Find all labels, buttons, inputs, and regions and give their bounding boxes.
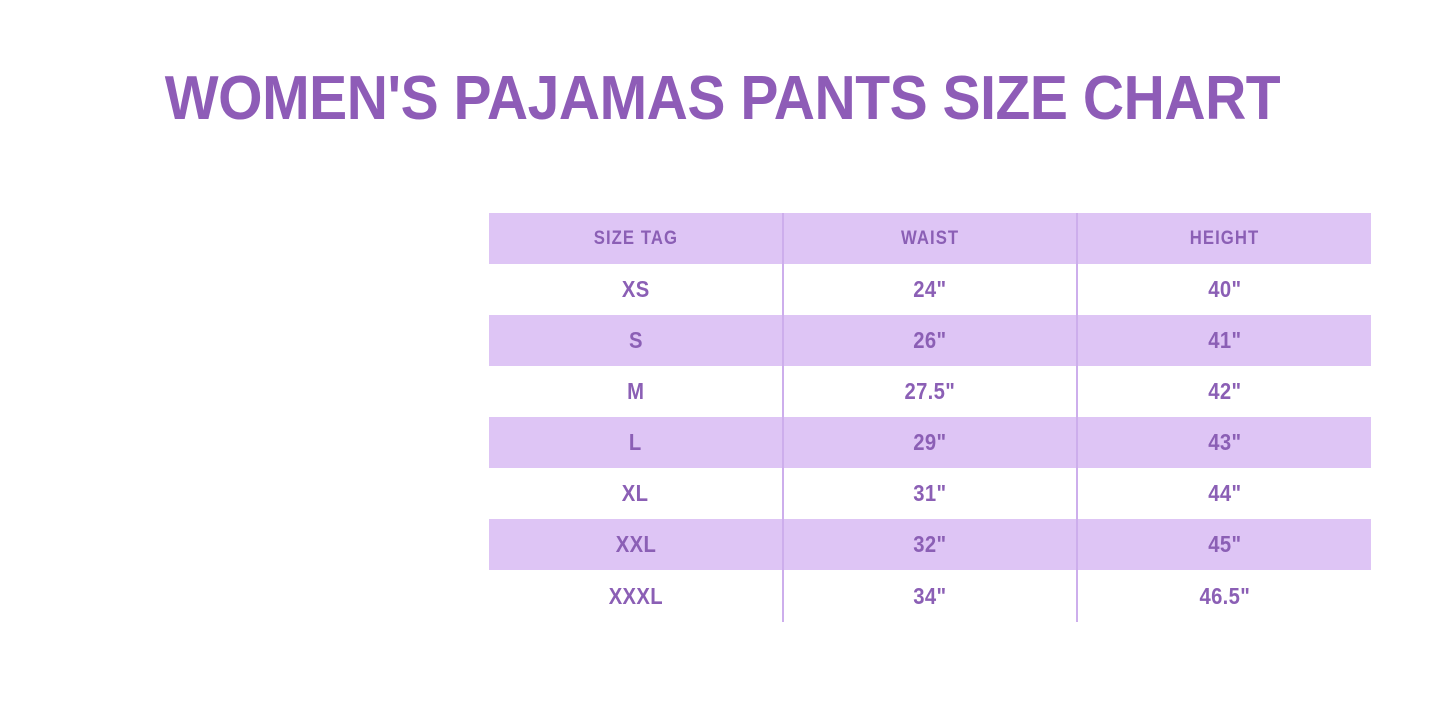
column-header-height: HEIGHT [1077,213,1371,264]
cell-waist: 29" [783,417,1077,468]
cell-size-tag: M [489,366,783,417]
column-header-size-tag: SIZE TAG [489,213,783,264]
cell-height-value: 44" [1208,480,1241,507]
cell-height: 40" [1077,264,1371,315]
cell-size-tag: XXL [489,519,783,570]
cell-waist: 24" [783,264,1077,315]
cell-waist: 31" [783,468,1077,519]
table-row: M 27.5" 42" [489,366,1371,417]
page-title: WOMEN'S PAJAMAS PANTS SIZE CHART [58,64,1387,134]
cell-size-tag: XXXL [489,570,783,622]
column-header-height-label: HEIGHT [1190,228,1260,250]
table-row: L 29" 43" [489,417,1371,468]
column-header-waist: WAIST [783,213,1077,264]
cell-waist: 26" [783,315,1077,366]
cell-height-value: 45" [1208,531,1241,558]
cell-height: 41" [1077,315,1371,366]
cell-size-tag-value: XXL [615,531,655,558]
cell-size-tag-value: XS [622,276,650,303]
cell-waist: 32" [783,519,1077,570]
cell-waist: 27.5" [783,366,1077,417]
cell-waist-value: 29" [913,429,946,456]
cell-height: 43" [1077,417,1371,468]
size-chart-page: WOMEN'S PAJAMAS PANTS SIZE CHART SIZE TA… [0,0,1445,723]
cell-size-tag-value: XL [622,480,649,507]
cell-height: 46.5" [1077,570,1371,622]
cell-waist-value: 27.5" [905,378,956,405]
cell-waist-value: 32" [913,531,946,558]
column-header-waist-label: WAIST [901,228,959,250]
table-row: XL 31" 44" [489,468,1371,519]
size-chart-table-wrapper: SIZE TAG WAIST HEIGHT XS 24" [489,213,1371,622]
cell-size-tag-value: S [629,327,643,354]
cell-height-value: 41" [1208,327,1241,354]
cell-size-tag: S [489,315,783,366]
cell-height-value: 43" [1208,429,1241,456]
cell-height-value: 42" [1208,378,1241,405]
cell-size-tag-value: XXXL [608,583,662,610]
table-header: SIZE TAG WAIST HEIGHT [489,213,1371,264]
cell-height: 42" [1077,366,1371,417]
cell-waist: 34" [783,570,1077,622]
cell-size-tag-value: L [629,429,642,456]
cell-height-value: 40" [1208,276,1241,303]
cell-waist-value: 24" [913,276,946,303]
table-row: XXL 32" 45" [489,519,1371,570]
table-body: XS 24" 40" S 26" [489,264,1371,622]
table-row: XXXL 34" 46.5" [489,570,1371,622]
cell-waist-value: 31" [913,480,946,507]
table-row: S 26" 41" [489,315,1371,366]
cell-size-tag: XL [489,468,783,519]
cell-height-value: 46.5" [1199,583,1250,610]
cell-waist-value: 26" [913,327,946,354]
size-chart-table: SIZE TAG WAIST HEIGHT XS 24" [489,213,1371,622]
cell-size-tag-value: M [627,378,644,405]
cell-waist-value: 34" [913,583,946,610]
table-header-row: SIZE TAG WAIST HEIGHT [489,213,1371,264]
table-row: XS 24" 40" [489,264,1371,315]
cell-height: 44" [1077,468,1371,519]
cell-size-tag: L [489,417,783,468]
column-header-size-tag-label: SIZE TAG [593,228,677,250]
cell-height: 45" [1077,519,1371,570]
cell-size-tag: XS [489,264,783,315]
